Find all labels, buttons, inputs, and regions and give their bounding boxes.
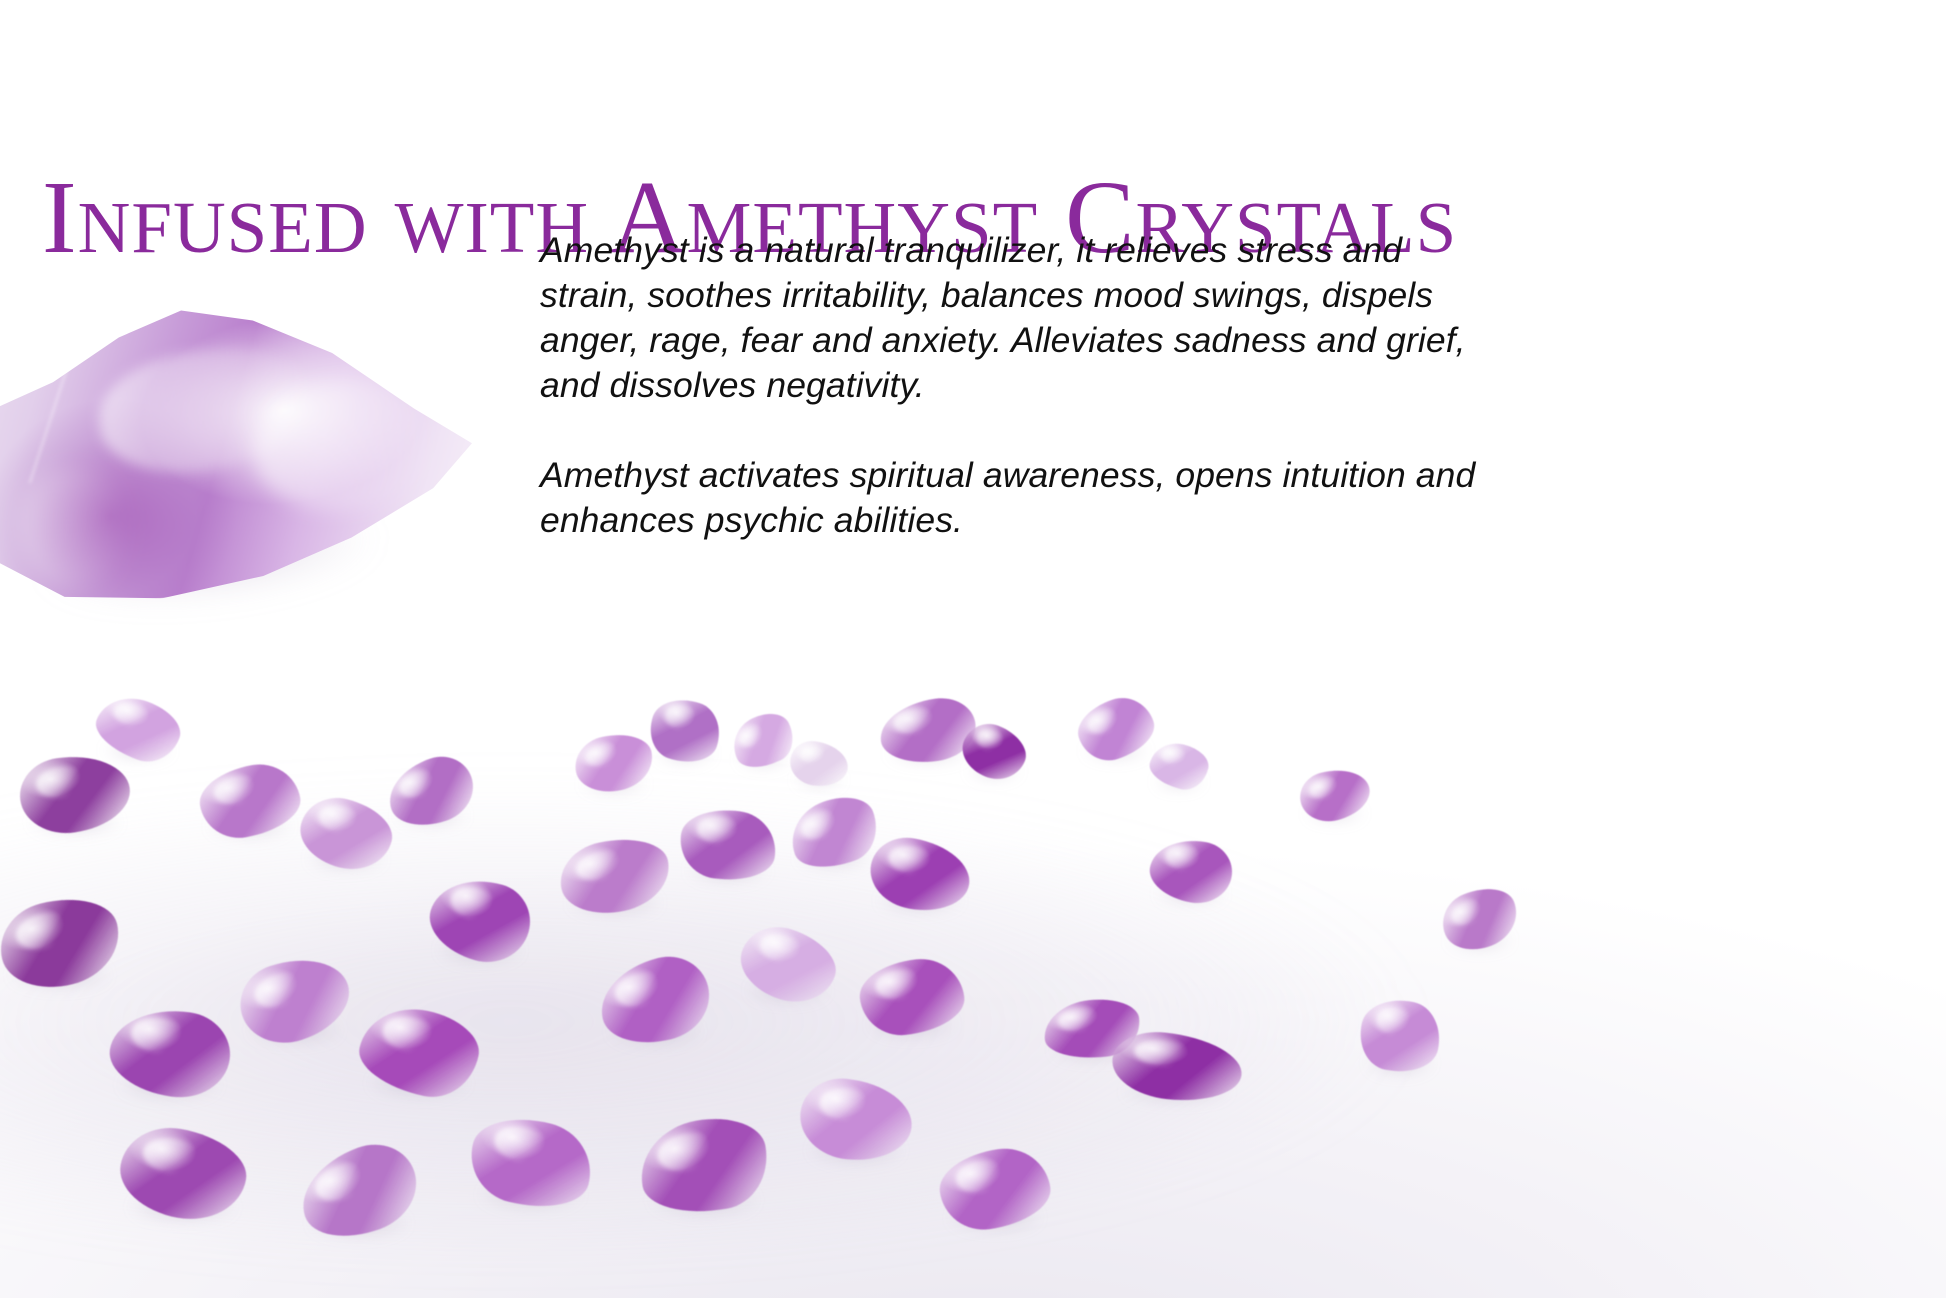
slide-canvas: Infused with Amethyst Crystals Amethyst … <box>0 0 1946 1298</box>
paragraph-benefits: Amethyst is a natural tranquilizer, it r… <box>540 228 1500 408</box>
description-block: Amethyst is a natural tranquilizer, it r… <box>540 228 1500 543</box>
paragraph-spiritual: Amethyst activates spiritual awareness, … <box>540 453 1500 543</box>
